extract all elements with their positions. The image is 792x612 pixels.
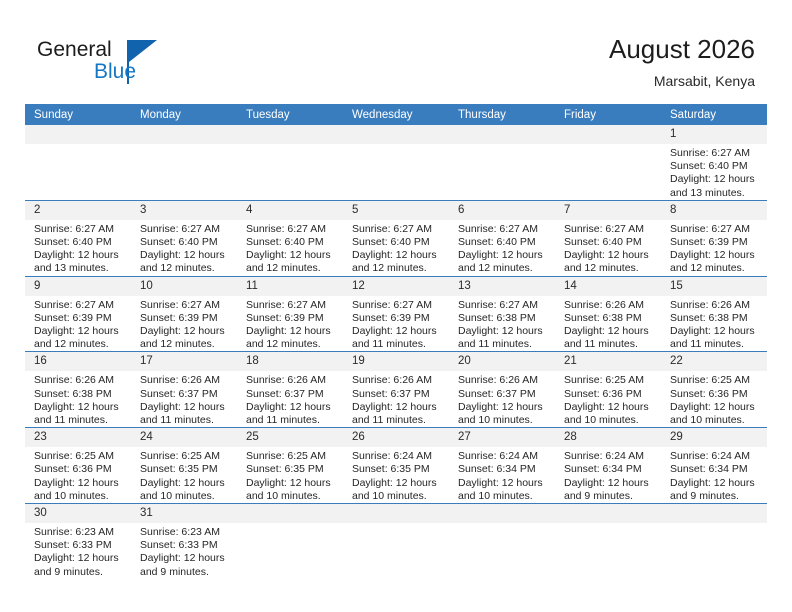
sun-info: Sunrise: 6:27 AMSunset: 6:40 PMDaylight:… <box>661 144 767 200</box>
sunrise-text: Sunrise: 6:27 AM <box>34 299 125 312</box>
sunset-text: Sunset: 6:39 PM <box>140 312 231 325</box>
calendar-cell-day[interactable]: 3Sunrise: 6:27 AMSunset: 6:40 PMDaylight… <box>131 200 237 276</box>
daylight-text-line1: Daylight: 12 hours <box>458 477 549 490</box>
day-number <box>25 125 131 144</box>
daylight-text-line1: Daylight: 12 hours <box>34 552 125 565</box>
calendar-cell-day[interactable]: 25Sunrise: 6:25 AMSunset: 6:35 PMDayligh… <box>237 428 343 504</box>
sun-info: Sunrise: 6:24 AMSunset: 6:34 PMDaylight:… <box>555 447 661 503</box>
daylight-text-line2: and 12 minutes. <box>458 262 549 275</box>
daylight-text-line2: and 12 minutes. <box>140 262 231 275</box>
sunrise-text: Sunrise: 6:26 AM <box>352 374 443 387</box>
weekday-header-wednesday: Wednesday <box>343 104 449 125</box>
day-number <box>343 125 449 144</box>
page-subtitle: Marsabit, Kenya <box>609 71 755 91</box>
sunset-text: Sunset: 6:40 PM <box>352 236 443 249</box>
weekday-header-sunday: Sunday <box>25 104 131 125</box>
daylight-text-line1: Daylight: 12 hours <box>140 401 231 414</box>
daylight-text-line1: Daylight: 12 hours <box>34 325 125 338</box>
calendar-cell-day[interactable]: 8Sunrise: 6:27 AMSunset: 6:39 PMDaylight… <box>661 200 767 276</box>
sun-info: Sunrise: 6:27 AMSunset: 6:38 PMDaylight:… <box>449 296 555 352</box>
sunrise-text: Sunrise: 6:27 AM <box>140 299 231 312</box>
daylight-text-line2: and 12 minutes. <box>352 262 443 275</box>
sun-info: Sunrise: 6:26 AMSunset: 6:38 PMDaylight:… <box>661 296 767 352</box>
day-number <box>237 125 343 144</box>
calendar-cell-day[interactable]: 22Sunrise: 6:25 AMSunset: 6:36 PMDayligh… <box>661 352 767 428</box>
daylight-text-line2: and 12 minutes. <box>564 262 655 275</box>
sunrise-text: Sunrise: 6:26 AM <box>246 374 337 387</box>
daylight-text-line2: and 11 minutes. <box>670 338 761 351</box>
daylight-text-line2: and 11 minutes. <box>352 414 443 427</box>
sunrise-text: Sunrise: 6:27 AM <box>246 223 337 236</box>
calendar-cell-day[interactable]: 12Sunrise: 6:27 AMSunset: 6:39 PMDayligh… <box>343 276 449 352</box>
sunset-text: Sunset: 6:38 PM <box>564 312 655 325</box>
day-number: 27 <box>449 428 555 447</box>
calendar-cell-empty <box>343 125 449 200</box>
weekday-header-thursday: Thursday <box>449 104 555 125</box>
calendar-cell-day[interactable]: 18Sunrise: 6:26 AMSunset: 6:37 PMDayligh… <box>237 352 343 428</box>
sunset-text: Sunset: 6:34 PM <box>458 463 549 476</box>
sun-info: Sunrise: 6:27 AMSunset: 6:40 PMDaylight:… <box>237 220 343 276</box>
day-number <box>131 125 237 144</box>
daylight-text-line1: Daylight: 12 hours <box>352 249 443 262</box>
calendar-page: General Blue August 2026 Marsabit, Kenya… <box>0 0 792 612</box>
sun-info: Sunrise: 6:25 AMSunset: 6:36 PMDaylight:… <box>661 371 767 427</box>
daylight-text-line1: Daylight: 12 hours <box>246 325 337 338</box>
sunset-text: Sunset: 6:37 PM <box>246 388 337 401</box>
calendar-cell-empty <box>237 504 343 585</box>
day-number: 12 <box>343 277 449 296</box>
daylight-text-line2: and 12 minutes. <box>34 338 125 351</box>
calendar-cell-day[interactable]: 5Sunrise: 6:27 AMSunset: 6:40 PMDaylight… <box>343 200 449 276</box>
sunset-text: Sunset: 6:37 PM <box>352 388 443 401</box>
daylight-text-line2: and 11 minutes. <box>352 338 443 351</box>
sunrise-text: Sunrise: 6:27 AM <box>246 299 337 312</box>
day-number: 17 <box>131 352 237 371</box>
daylight-text-line1: Daylight: 12 hours <box>352 401 443 414</box>
daylight-text-line2: and 11 minutes. <box>458 338 549 351</box>
daylight-text-line2: and 11 minutes. <box>246 414 337 427</box>
sun-info: Sunrise: 6:25 AMSunset: 6:35 PMDaylight:… <box>131 447 237 503</box>
calendar-cell-empty <box>343 504 449 585</box>
sunset-text: Sunset: 6:38 PM <box>34 388 125 401</box>
sun-info: Sunrise: 6:26 AMSunset: 6:37 PMDaylight:… <box>343 371 449 427</box>
sunrise-text: Sunrise: 6:26 AM <box>670 299 761 312</box>
calendar-cell-empty <box>555 125 661 200</box>
daylight-text-line2: and 10 minutes. <box>458 490 549 503</box>
sun-info: Sunrise: 6:27 AMSunset: 6:39 PMDaylight:… <box>25 296 131 352</box>
daylight-text-line1: Daylight: 12 hours <box>458 249 549 262</box>
calendar-cell-day[interactable]: 16Sunrise: 6:26 AMSunset: 6:38 PMDayligh… <box>25 352 131 428</box>
day-number: 1 <box>661 125 767 144</box>
daylight-text-line1: Daylight: 12 hours <box>246 477 337 490</box>
sunrise-text: Sunrise: 6:27 AM <box>670 147 761 160</box>
calendar-cell-day[interactable]: 11Sunrise: 6:27 AMSunset: 6:39 PMDayligh… <box>237 276 343 352</box>
day-number: 21 <box>555 352 661 371</box>
daylight-text-line1: Daylight: 12 hours <box>458 401 549 414</box>
daylight-text-line2: and 9 minutes. <box>564 490 655 503</box>
day-number: 18 <box>237 352 343 371</box>
day-number <box>449 125 555 144</box>
sun-info: Sunrise: 6:24 AMSunset: 6:35 PMDaylight:… <box>343 447 449 503</box>
sunset-text: Sunset: 6:39 PM <box>670 236 761 249</box>
sun-info: Sunrise: 6:27 AMSunset: 6:40 PMDaylight:… <box>25 220 131 276</box>
sunset-text: Sunset: 6:35 PM <box>352 463 443 476</box>
sunrise-text: Sunrise: 6:27 AM <box>140 223 231 236</box>
daylight-text-line2: and 12 minutes. <box>140 338 231 351</box>
calendar-cell-day[interactable]: 2Sunrise: 6:27 AMSunset: 6:40 PMDaylight… <box>25 200 131 276</box>
daylight-text-line2: and 10 minutes. <box>246 490 337 503</box>
daylight-text-line1: Daylight: 12 hours <box>140 552 231 565</box>
day-number <box>449 504 555 523</box>
day-number: 24 <box>131 428 237 447</box>
day-number: 31 <box>131 504 237 523</box>
sunrise-text: Sunrise: 6:24 AM <box>352 450 443 463</box>
sun-info: Sunrise: 6:27 AMSunset: 6:40 PMDaylight:… <box>131 220 237 276</box>
sunrise-text: Sunrise: 6:27 AM <box>670 223 761 236</box>
sunset-text: Sunset: 6:40 PM <box>458 236 549 249</box>
sunrise-text: Sunrise: 6:27 AM <box>458 223 549 236</box>
daylight-text-line2: and 9 minutes. <box>670 490 761 503</box>
day-number: 26 <box>343 428 449 447</box>
calendar-week-row: 30Sunrise: 6:23 AMSunset: 6:33 PMDayligh… <box>25 504 767 585</box>
calendar-cell-empty <box>555 504 661 585</box>
sun-info: Sunrise: 6:25 AMSunset: 6:36 PMDaylight:… <box>555 371 661 427</box>
sunset-text: Sunset: 6:40 PM <box>140 236 231 249</box>
sunset-text: Sunset: 6:34 PM <box>564 463 655 476</box>
page-header: General Blue August 2026 Marsabit, Kenya <box>0 0 792 104</box>
day-number: 30 <box>25 504 131 523</box>
calendar-table: Sunday Monday Tuesday Wednesday Thursday… <box>25 104 767 584</box>
calendar-cell-day[interactable]: 31Sunrise: 6:23 AMSunset: 6:33 PMDayligh… <box>131 504 237 585</box>
sun-info: Sunrise: 6:27 AMSunset: 6:39 PMDaylight:… <box>237 296 343 352</box>
sunset-text: Sunset: 6:37 PM <box>458 388 549 401</box>
sunset-text: Sunset: 6:39 PM <box>34 312 125 325</box>
calendar-cell-day[interactable]: 6Sunrise: 6:27 AMSunset: 6:40 PMDaylight… <box>449 200 555 276</box>
calendar-week-row: 16Sunrise: 6:26 AMSunset: 6:38 PMDayligh… <box>25 352 767 428</box>
sunrise-text: Sunrise: 6:25 AM <box>564 374 655 387</box>
daylight-text-line2: and 9 minutes. <box>140 566 231 579</box>
sunrise-text: Sunrise: 6:25 AM <box>246 450 337 463</box>
daylight-text-line1: Daylight: 12 hours <box>564 325 655 338</box>
sunrise-text: Sunrise: 6:26 AM <box>564 299 655 312</box>
day-number: 22 <box>661 352 767 371</box>
sunrise-text: Sunrise: 6:27 AM <box>352 299 443 312</box>
daylight-text-line1: Daylight: 12 hours <box>246 401 337 414</box>
sunrise-text: Sunrise: 6:23 AM <box>140 526 231 539</box>
daylight-text-line1: Daylight: 12 hours <box>670 249 761 262</box>
sun-info: Sunrise: 6:26 AMSunset: 6:37 PMDaylight:… <box>131 371 237 427</box>
calendar-cell-day[interactable]: 21Sunrise: 6:25 AMSunset: 6:36 PMDayligh… <box>555 352 661 428</box>
sun-info: Sunrise: 6:25 AMSunset: 6:36 PMDaylight:… <box>25 447 131 503</box>
day-number: 5 <box>343 201 449 220</box>
calendar-cell-empty <box>131 125 237 200</box>
sunrise-text: Sunrise: 6:25 AM <box>34 450 125 463</box>
page-title: August 2026 <box>609 34 755 65</box>
sunset-text: Sunset: 6:40 PM <box>670 160 761 173</box>
calendar-cell-day[interactable]: 27Sunrise: 6:24 AMSunset: 6:34 PMDayligh… <box>449 428 555 504</box>
weekday-header-row: Sunday Monday Tuesday Wednesday Thursday… <box>25 104 767 125</box>
daylight-text-line2: and 13 minutes. <box>34 262 125 275</box>
calendar-cell-day[interactable]: 26Sunrise: 6:24 AMSunset: 6:35 PMDayligh… <box>343 428 449 504</box>
calendar-cell-day[interactable]: 28Sunrise: 6:24 AMSunset: 6:34 PMDayligh… <box>555 428 661 504</box>
sunrise-text: Sunrise: 6:24 AM <box>670 450 761 463</box>
daylight-text-line2: and 11 minutes. <box>140 414 231 427</box>
day-number: 2 <box>25 201 131 220</box>
daylight-text-line1: Daylight: 12 hours <box>246 249 337 262</box>
daylight-text-line1: Daylight: 12 hours <box>352 325 443 338</box>
sunset-text: Sunset: 6:33 PM <box>34 539 125 552</box>
calendar-cell-day[interactable]: 24Sunrise: 6:25 AMSunset: 6:35 PMDayligh… <box>131 428 237 504</box>
daylight-text-line1: Daylight: 12 hours <box>670 401 761 414</box>
day-number: 8 <box>661 201 767 220</box>
day-number: 11 <box>237 277 343 296</box>
sunset-text: Sunset: 6:36 PM <box>564 388 655 401</box>
sun-info: Sunrise: 6:27 AMSunset: 6:40 PMDaylight:… <box>343 220 449 276</box>
calendar-cell-day[interactable]: 15Sunrise: 6:26 AMSunset: 6:38 PMDayligh… <box>661 276 767 352</box>
day-number: 28 <box>555 428 661 447</box>
daylight-text-line2: and 10 minutes. <box>352 490 443 503</box>
sun-info: Sunrise: 6:26 AMSunset: 6:37 PMDaylight:… <box>237 371 343 427</box>
day-number: 14 <box>555 277 661 296</box>
sun-info: Sunrise: 6:24 AMSunset: 6:34 PMDaylight:… <box>661 447 767 503</box>
day-number: 10 <box>131 277 237 296</box>
calendar-cell-day[interactable]: 14Sunrise: 6:26 AMSunset: 6:38 PMDayligh… <box>555 276 661 352</box>
sunset-text: Sunset: 6:40 PM <box>246 236 337 249</box>
daylight-text-line2: and 13 minutes. <box>670 187 761 200</box>
daylight-text-line2: and 12 minutes. <box>246 262 337 275</box>
sun-info: Sunrise: 6:27 AMSunset: 6:39 PMDaylight:… <box>343 296 449 352</box>
calendar-cell-day[interactable]: 1Sunrise: 6:27 AMSunset: 6:40 PMDaylight… <box>661 125 767 200</box>
calendar-cell-empty <box>25 125 131 200</box>
sunset-text: Sunset: 6:38 PM <box>670 312 761 325</box>
weekday-header-monday: Monday <box>131 104 237 125</box>
daylight-text-line2: and 12 minutes. <box>670 262 761 275</box>
logo-triangle-icon <box>129 40 157 62</box>
sunrise-text: Sunrise: 6:25 AM <box>670 374 761 387</box>
daylight-text-line1: Daylight: 12 hours <box>670 477 761 490</box>
daylight-text-line1: Daylight: 12 hours <box>564 249 655 262</box>
sunset-text: Sunset: 6:35 PM <box>246 463 337 476</box>
day-number: 13 <box>449 277 555 296</box>
calendar-cell-empty <box>237 125 343 200</box>
calendar-cell-day[interactable]: 17Sunrise: 6:26 AMSunset: 6:37 PMDayligh… <box>131 352 237 428</box>
calendar-cell-day[interactable]: 19Sunrise: 6:26 AMSunset: 6:37 PMDayligh… <box>343 352 449 428</box>
sunset-text: Sunset: 6:36 PM <box>670 388 761 401</box>
daylight-text-line2: and 12 minutes. <box>246 338 337 351</box>
sun-info: Sunrise: 6:25 AMSunset: 6:35 PMDaylight:… <box>237 447 343 503</box>
day-number: 19 <box>343 352 449 371</box>
day-number: 29 <box>661 428 767 447</box>
daylight-text-line1: Daylight: 12 hours <box>34 249 125 262</box>
sunrise-text: Sunrise: 6:26 AM <box>458 374 549 387</box>
daylight-text-line2: and 11 minutes. <box>564 338 655 351</box>
calendar-cell-day[interactable]: 30Sunrise: 6:23 AMSunset: 6:33 PMDayligh… <box>25 504 131 585</box>
calendar-week-row: 23Sunrise: 6:25 AMSunset: 6:36 PMDayligh… <box>25 428 767 504</box>
day-number: 4 <box>237 201 343 220</box>
daylight-text-line2: and 10 minutes. <box>670 414 761 427</box>
day-number: 23 <box>25 428 131 447</box>
daylight-text-line2: and 9 minutes. <box>34 566 125 579</box>
sun-info: Sunrise: 6:23 AMSunset: 6:33 PMDaylight:… <box>131 523 237 579</box>
sunrise-text: Sunrise: 6:23 AM <box>34 526 125 539</box>
day-number: 6 <box>449 201 555 220</box>
sunrise-text: Sunrise: 6:27 AM <box>34 223 125 236</box>
general-blue-logo[interactable]: General Blue <box>37 38 217 90</box>
calendar-cell-day[interactable]: 23Sunrise: 6:25 AMSunset: 6:36 PMDayligh… <box>25 428 131 504</box>
weekday-header-tuesday: Tuesday <box>237 104 343 125</box>
logo-text-blue: Blue <box>94 60 136 84</box>
daylight-text-line2: and 10 minutes. <box>564 414 655 427</box>
day-number: 20 <box>449 352 555 371</box>
sun-info: Sunrise: 6:24 AMSunset: 6:34 PMDaylight:… <box>449 447 555 503</box>
sun-info: Sunrise: 6:26 AMSunset: 6:38 PMDaylight:… <box>555 296 661 352</box>
sunset-text: Sunset: 6:34 PM <box>670 463 761 476</box>
sun-info: Sunrise: 6:27 AMSunset: 6:40 PMDaylight:… <box>555 220 661 276</box>
daylight-text-line1: Daylight: 12 hours <box>140 249 231 262</box>
daylight-text-line1: Daylight: 12 hours <box>34 401 125 414</box>
sunrise-text: Sunrise: 6:27 AM <box>458 299 549 312</box>
calendar-cell-day[interactable]: 20Sunrise: 6:26 AMSunset: 6:37 PMDayligh… <box>449 352 555 428</box>
sunset-text: Sunset: 6:35 PM <box>140 463 231 476</box>
calendar-cell-empty <box>661 504 767 585</box>
day-number: 9 <box>25 277 131 296</box>
sun-info: Sunrise: 6:27 AMSunset: 6:39 PMDaylight:… <box>131 296 237 352</box>
calendar-cell-day[interactable]: 7Sunrise: 6:27 AMSunset: 6:40 PMDaylight… <box>555 200 661 276</box>
sun-info: Sunrise: 6:27 AMSunset: 6:40 PMDaylight:… <box>449 220 555 276</box>
day-number <box>661 504 767 523</box>
calendar-cell-day[interactable]: 4Sunrise: 6:27 AMSunset: 6:40 PMDaylight… <box>237 200 343 276</box>
day-number <box>343 504 449 523</box>
daylight-text-line2: and 10 minutes. <box>34 490 125 503</box>
sunset-text: Sunset: 6:36 PM <box>34 463 125 476</box>
sunset-text: Sunset: 6:40 PM <box>34 236 125 249</box>
sunrise-text: Sunrise: 6:24 AM <box>458 450 549 463</box>
daylight-text-line1: Daylight: 12 hours <box>670 325 761 338</box>
daylight-text-line2: and 11 minutes. <box>34 414 125 427</box>
calendar-cell-day[interactable]: 10Sunrise: 6:27 AMSunset: 6:39 PMDayligh… <box>131 276 237 352</box>
calendar-cell-day[interactable]: 9Sunrise: 6:27 AMSunset: 6:39 PMDaylight… <box>25 276 131 352</box>
sunset-text: Sunset: 6:38 PM <box>458 312 549 325</box>
title-block: August 2026 Marsabit, Kenya <box>609 34 755 91</box>
calendar-cell-empty <box>449 125 555 200</box>
sun-info: Sunrise: 6:23 AMSunset: 6:33 PMDaylight:… <box>25 523 131 579</box>
day-number: 25 <box>237 428 343 447</box>
logo-text-general: General <box>37 38 112 62</box>
sunset-text: Sunset: 6:39 PM <box>352 312 443 325</box>
daylight-text-line1: Daylight: 12 hours <box>458 325 549 338</box>
day-number: 15 <box>661 277 767 296</box>
calendar-week-row: 1Sunrise: 6:27 AMSunset: 6:40 PMDaylight… <box>25 125 767 200</box>
day-number <box>237 504 343 523</box>
weekday-header-saturday: Saturday <box>661 104 767 125</box>
calendar-body: 1Sunrise: 6:27 AMSunset: 6:40 PMDaylight… <box>25 125 767 584</box>
sunset-text: Sunset: 6:37 PM <box>140 388 231 401</box>
daylight-text-line2: and 10 minutes. <box>140 490 231 503</box>
daylight-text-line1: Daylight: 12 hours <box>140 477 231 490</box>
daylight-text-line1: Daylight: 12 hours <box>564 477 655 490</box>
calendar-cell-day[interactable]: 29Sunrise: 6:24 AMSunset: 6:34 PMDayligh… <box>661 428 767 504</box>
day-number: 7 <box>555 201 661 220</box>
sunrise-text: Sunrise: 6:26 AM <box>140 374 231 387</box>
calendar-cell-empty <box>449 504 555 585</box>
daylight-text-line1: Daylight: 12 hours <box>670 173 761 186</box>
sun-info: Sunrise: 6:26 AMSunset: 6:37 PMDaylight:… <box>449 371 555 427</box>
sunrise-text: Sunrise: 6:26 AM <box>34 374 125 387</box>
sun-info: Sunrise: 6:27 AMSunset: 6:39 PMDaylight:… <box>661 220 767 276</box>
day-number: 16 <box>25 352 131 371</box>
day-number <box>555 125 661 144</box>
calendar-cell-day[interactable]: 13Sunrise: 6:27 AMSunset: 6:38 PMDayligh… <box>449 276 555 352</box>
daylight-text-line1: Daylight: 12 hours <box>140 325 231 338</box>
calendar-week-row: 9Sunrise: 6:27 AMSunset: 6:39 PMDaylight… <box>25 276 767 352</box>
calendar-week-row: 2Sunrise: 6:27 AMSunset: 6:40 PMDaylight… <box>25 200 767 276</box>
sunset-text: Sunset: 6:40 PM <box>564 236 655 249</box>
sun-info: Sunrise: 6:26 AMSunset: 6:38 PMDaylight:… <box>25 371 131 427</box>
sunrise-text: Sunrise: 6:27 AM <box>564 223 655 236</box>
daylight-text-line1: Daylight: 12 hours <box>34 477 125 490</box>
day-number <box>555 504 661 523</box>
daylight-text-line1: Daylight: 12 hours <box>564 401 655 414</box>
sunset-text: Sunset: 6:33 PM <box>140 539 231 552</box>
sunrise-text: Sunrise: 6:27 AM <box>352 223 443 236</box>
day-number: 3 <box>131 201 237 220</box>
daylight-text-line1: Daylight: 12 hours <box>352 477 443 490</box>
daylight-text-line2: and 10 minutes. <box>458 414 549 427</box>
weekday-header-friday: Friday <box>555 104 661 125</box>
sunrise-text: Sunrise: 6:24 AM <box>564 450 655 463</box>
sunrise-text: Sunrise: 6:25 AM <box>140 450 231 463</box>
sunset-text: Sunset: 6:39 PM <box>246 312 337 325</box>
